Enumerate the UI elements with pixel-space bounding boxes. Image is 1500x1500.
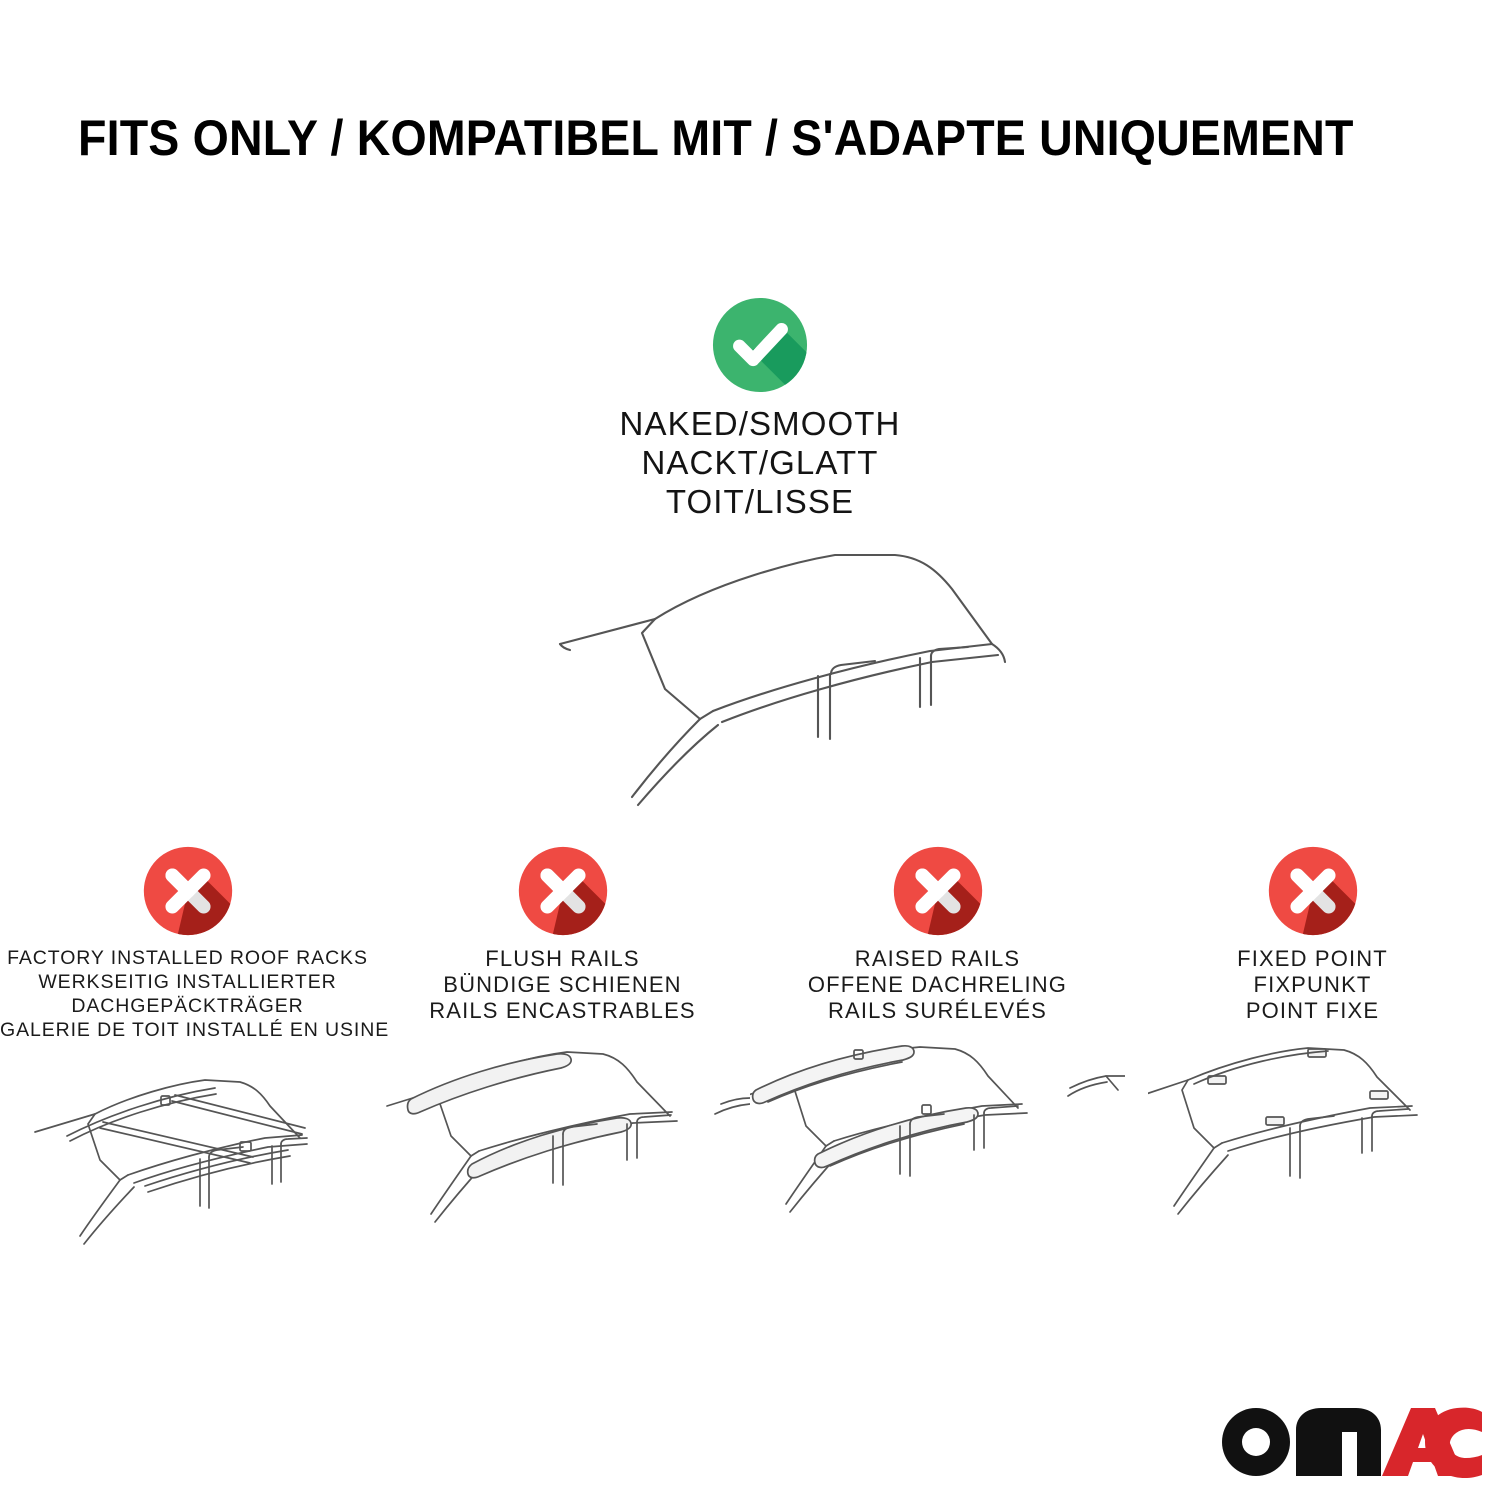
cross-circle-icon	[142, 845, 234, 937]
incompatible-caption-line: POINT FIXE	[1125, 998, 1500, 1024]
car-roof-fixed-point-illustration	[1148, 1038, 1478, 1253]
incompatible-caption-line: FLUSH RAILS	[375, 946, 750, 972]
compatible-caption-line: NACKT/GLATT	[480, 443, 1040, 482]
incompatible-caption-line: WERKSEITIG INSTALLIERTER	[0, 970, 375, 994]
incompatible-caption: FACTORY INSTALLED ROOF RACKS WERKSEITIG …	[0, 946, 375, 1042]
omac-logo: OMAC	[1212, 1396, 1482, 1482]
incompatible-caption-line: RAILS ENCASTRABLES	[375, 998, 750, 1024]
incompatible-caption-line: FIXED POINT	[1125, 946, 1500, 972]
car-roof-factory-installed-rack-illustration	[0, 1056, 375, 1271]
compatible-caption-line: TOIT/LISSE	[480, 482, 1040, 521]
incompatible-roof-types-row: FACTORY INSTALLED ROOF RACKS WERKSEITIG …	[0, 845, 1500, 1295]
car-roof-raised-rails-illustration	[750, 1038, 1125, 1253]
incompatible-caption-line: DACHGEPÄCKTRÄGER	[0, 994, 375, 1018]
incompatible-caption-line: FIXPUNKT	[1125, 972, 1500, 998]
check-circle-icon	[711, 296, 809, 394]
page-title: FITS ONLY / KOMPATIBEL MIT / S'ADAPTE UN…	[78, 108, 1334, 168]
cross-circle-icon	[1267, 845, 1359, 937]
incompatible-roof-type-raised-rails: RAISED RAILS OFFENE DACHRELING RAILS SUR…	[750, 845, 1125, 1258]
incompatible-caption: RAISED RAILS OFFENE DACHRELING RAILS SUR…	[750, 946, 1125, 1024]
incompatible-caption-line: RAILS SURÉLEVÉS	[750, 998, 1125, 1024]
omac-logo-letter-m	[1296, 1408, 1381, 1476]
incompatible-caption-line: GALERIE DE TOIT INSTALLÉ EN USINE	[0, 1018, 375, 1042]
compatible-caption: NAKED/SMOOTH NACKT/GLATT TOIT/LISSE	[480, 404, 1040, 521]
car-roof-flush-rails-illustration	[375, 1038, 750, 1253]
cross-circle-icon	[517, 845, 609, 937]
incompatible-caption-line: FACTORY INSTALLED ROOF RACKS	[0, 946, 375, 970]
compatible-roof-type-block: NAKED/SMOOTH NACKT/GLATT TOIT/LISSE	[480, 296, 1040, 796]
incompatible-roof-type-fixed-point: FIXED POINT FIXPUNKT POINT FIXE	[1125, 845, 1500, 1258]
incompatible-roof-type-flush-rails: FLUSH RAILS BÜNDIGE SCHIENEN RAILS ENCAS…	[375, 845, 750, 1258]
car-roof-naked-smooth-illustration	[500, 539, 1020, 809]
incompatible-caption-line: RAISED RAILS	[750, 946, 1125, 972]
incompatible-caption-line: OFFENE DACHRELING	[750, 972, 1125, 998]
omac-logo-letter-o	[1222, 1408, 1290, 1476]
compatible-caption-line: NAKED/SMOOTH	[480, 404, 1040, 443]
incompatible-caption-line: BÜNDIGE SCHIENEN	[375, 972, 750, 998]
incompatible-caption: FIXED POINT FIXPUNKT POINT FIXE	[1125, 946, 1500, 1024]
incompatible-caption: FLUSH RAILS BÜNDIGE SCHIENEN RAILS ENCAS…	[375, 946, 750, 1024]
cross-circle-icon	[892, 845, 984, 937]
incompatible-roof-type-factory-installed-rack: FACTORY INSTALLED ROOF RACKS WERKSEITIG …	[0, 845, 375, 1276]
